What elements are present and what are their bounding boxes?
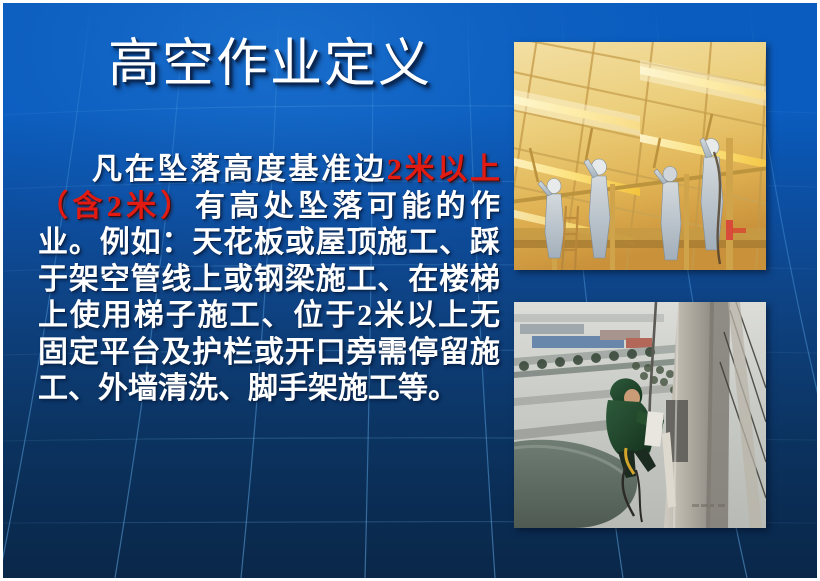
- presentation-slide: 高空作业定义 凡在坠落高度基准边2米以上（含2米）有高处坠落可能的作业。例如：天…: [0, 0, 820, 581]
- body-text-segment-0: 凡在坠落高度基准边: [92, 153, 387, 186]
- body-text-segment-1: 2米: [387, 153, 438, 186]
- ceiling-work-illustration: [514, 42, 766, 270]
- page-title: 高空作业定义: [60, 32, 480, 98]
- photo-workers-on-scaffold-ceiling: [514, 42, 766, 270]
- photo-worker-suspended-on-rope: [514, 302, 766, 528]
- slide-body-text: 凡在坠落高度基准边2米以上（含2米）有高处坠落可能的作业。例如：天花板或屋顶施工…: [38, 152, 500, 408]
- rope-work-illustration: [514, 302, 766, 528]
